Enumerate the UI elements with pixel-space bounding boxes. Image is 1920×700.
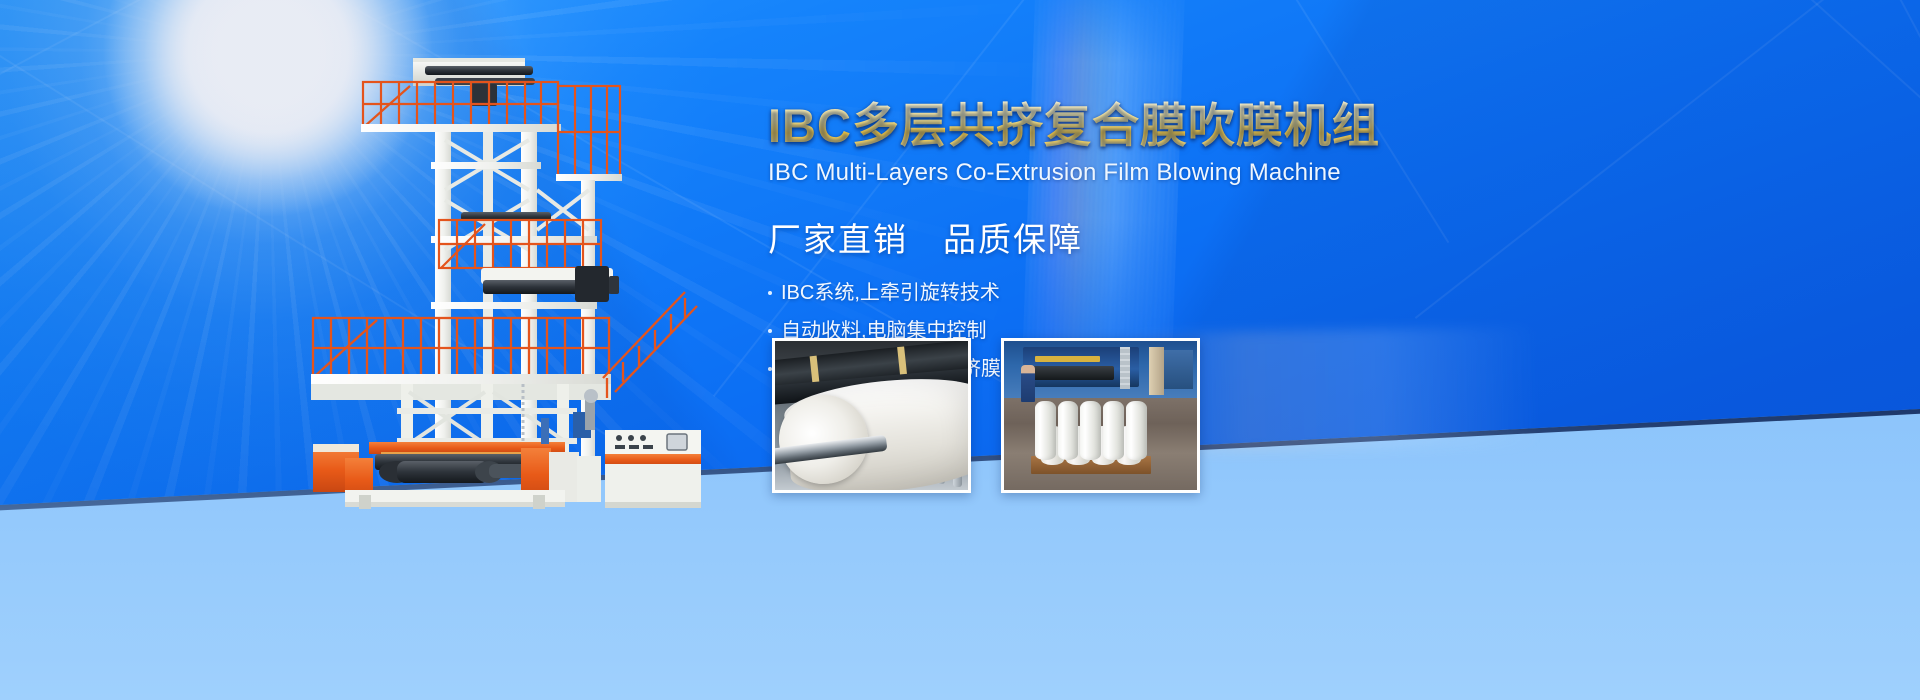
- tagline: 厂家直销 品质保障: [768, 213, 1748, 261]
- hero-machine-image: [285, 40, 725, 510]
- list-item: IBC系统,上牵引旋转技术: [768, 283, 1748, 303]
- bullet-dot-icon: [768, 329, 772, 333]
- page-subtitle: IBC Multi-Layers Co-Extrusion Film Blowi…: [768, 159, 1748, 187]
- product-hero-banner: IBC多层共挤复合膜吹膜机组 IBC Multi-Layers Co-Extru…: [0, 0, 1920, 700]
- photo-film-rolls-on-pallet: [1001, 338, 1200, 493]
- page-title: IBC多层共挤复合膜吹膜机组: [768, 100, 1748, 153]
- bullet-dot-icon: [768, 291, 772, 295]
- product-photo-strip: [772, 338, 1200, 493]
- feature-text: IBC系统,上牵引旋转技术: [781, 283, 1000, 303]
- photo-film-roll-on-winder: [772, 338, 971, 493]
